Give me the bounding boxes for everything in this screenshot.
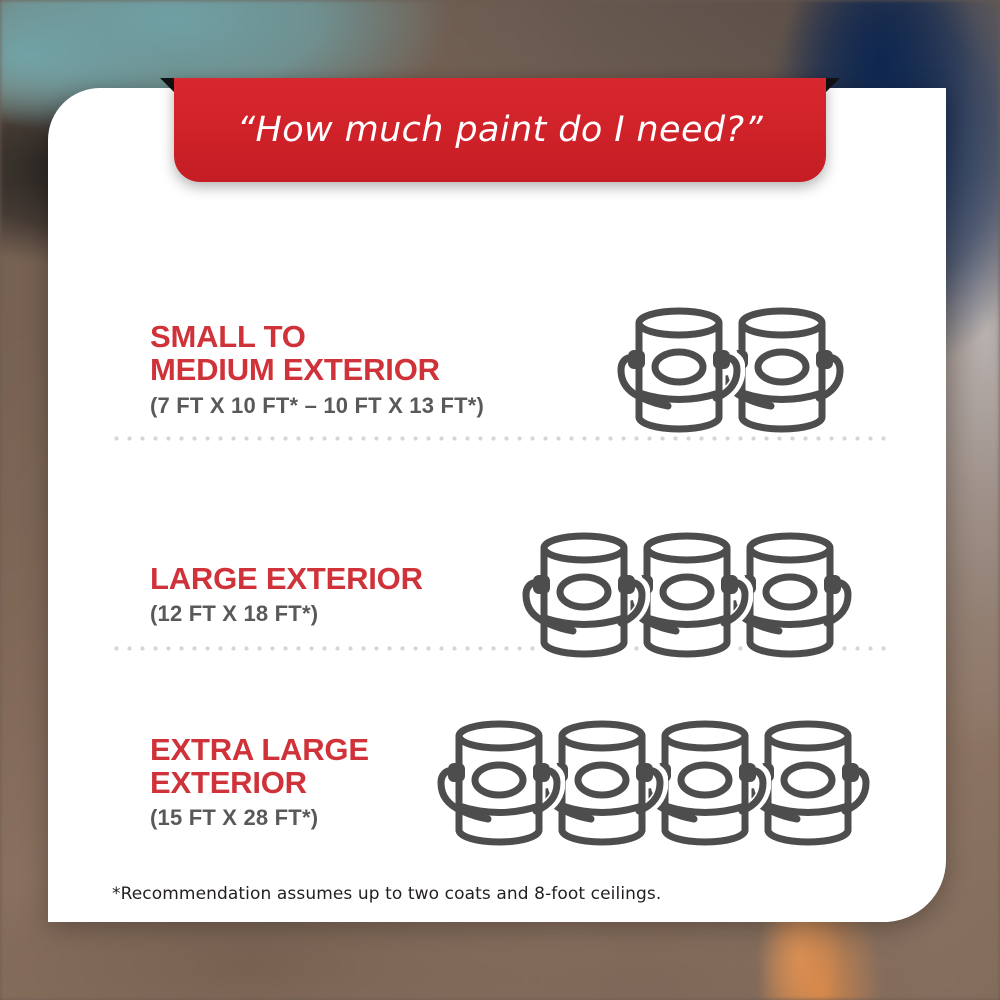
- row-title: LARGE EXTERIOR: [150, 563, 550, 596]
- row-dimensions: (7 FT X 10 FT* – 10 FT X 13 FT*): [150, 393, 550, 419]
- row-text-block: LARGE EXTERIOR (12 FT X 18 FT*): [150, 563, 550, 628]
- paint-can-icon: [613, 295, 745, 445]
- paint-can-icon: [433, 708, 565, 858]
- ribbon-banner: “How much paint do I need?”: [160, 78, 840, 182]
- row-dimensions: (12 FT X 18 FT*): [150, 601, 550, 627]
- paint-row-large: LARGE EXTERIOR (12 FT X 18 FT*): [48, 500, 946, 690]
- paint-can-icon: [518, 520, 650, 670]
- paint-can-group: [613, 295, 819, 445]
- paint-can-group: [433, 708, 845, 858]
- banner-body: “How much paint do I need?”: [174, 78, 826, 182]
- paint-can-group: [518, 520, 827, 670]
- paint-row-extra-large: EXTRA LARGE EXTERIOR (15 FT X 28 FT*): [48, 680, 946, 885]
- row-title: SMALL TO MEDIUM EXTERIOR: [150, 321, 550, 386]
- infographic-stage: SMALL TO MEDIUM EXTERIOR (7 FT X 10 FT* …: [0, 0, 1000, 1000]
- footnote: *Recommendation assumes up to two coats …: [112, 884, 661, 904]
- banner-title: “How much paint do I need?”: [237, 110, 763, 150]
- info-card: SMALL TO MEDIUM EXTERIOR (7 FT X 10 FT* …: [48, 88, 946, 922]
- row-text-block: SMALL TO MEDIUM EXTERIOR (7 FT X 10 FT* …: [150, 321, 550, 418]
